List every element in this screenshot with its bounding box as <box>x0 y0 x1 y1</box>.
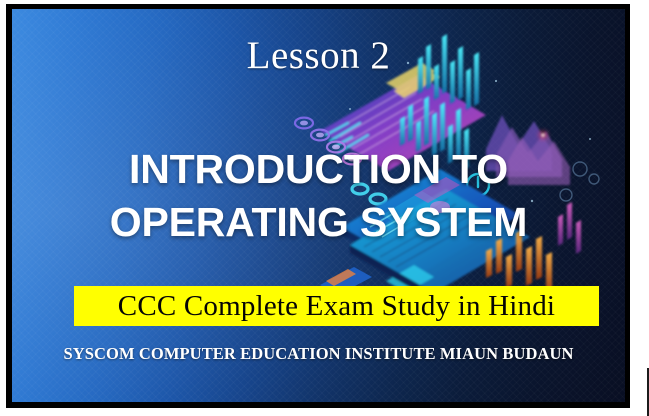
lesson-label: Lesson 2 <box>12 35 625 76</box>
subtitle-banner-text: CCC Complete Exam Study in Hindi <box>118 292 555 321</box>
page-title-line-2: OPERATING SYSTEM <box>12 196 625 249</box>
institute-name: SYSCOM COMPUTER EDUCATION INSTITUTE MIAU… <box>12 345 625 363</box>
subtitle-banner: CCC Complete Exam Study in Hindi <box>74 286 599 326</box>
slide-canvas: Lesson 2 INTRODUCTION TO OPERATING SYSTE… <box>12 9 625 402</box>
page-title-line-1: INTRODUCTION TO <box>12 143 625 196</box>
slide-black-frame: Lesson 2 INTRODUCTION TO OPERATING SYSTE… <box>6 4 630 408</box>
slide-root: Lesson 2 INTRODUCTION TO OPERATING SYSTE… <box>0 0 649 416</box>
page-title: INTRODUCTION TO OPERATING SYSTEM <box>12 143 625 250</box>
